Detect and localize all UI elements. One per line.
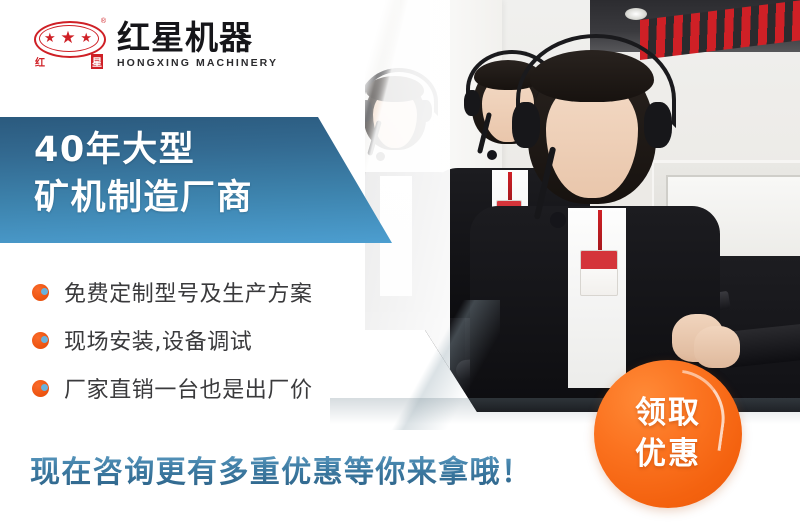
bullet-dot-icon [32, 380, 49, 397]
feature-label: 现场安装,设备调试 [64, 324, 252, 356]
feature-list: 免费定制型号及生产方案 现场安装,设备调试 厂家直销一台也是出厂价 [32, 268, 313, 412]
bullet-dot-icon [32, 332, 49, 349]
header: ★ ★ ★ ® 红 星 红星机器 HONGXING MACHINERY [0, 0, 800, 100]
bullet-dot-icon [32, 284, 49, 301]
feature-label: 免费定制型号及生产方案 [64, 276, 313, 308]
logo-sub-characters: 红 星 [35, 54, 103, 69]
cta-label-line-2: 优惠 [635, 434, 701, 475]
list-item: 厂家直销一台也是出厂价 [32, 364, 313, 412]
logo-sub-left: 红 [35, 54, 45, 69]
brand-name-en: HONGXING MACHINERY [117, 57, 278, 69]
star-icon-left: ★ [44, 31, 56, 44]
promo-banner: ★ ★ ★ ® 红 星 红星机器 HONGXING MACHINERY 40年大… [0, 0, 800, 530]
list-item: 现场安装,设备调试 [32, 316, 313, 364]
logo-stars: ★ ★ ★ [44, 28, 92, 47]
headline-line-1: 40年大型 [34, 127, 253, 175]
logo-sub-right: 星 [91, 54, 103, 69]
list-item: 免费定制型号及生产方案 [32, 268, 313, 316]
brand-wordmark: 红星机器 HONGXING MACHINERY [117, 19, 278, 70]
feature-label: 厂家直销一台也是出厂价 [64, 372, 313, 404]
headline-line-2: 矿机制造厂商 [34, 175, 253, 223]
headline-chevron-banner: 40年大型 矿机制造厂商 [0, 117, 392, 243]
brand-name-cn: 红星机器 [117, 21, 278, 56]
star-icon-center: ★ [60, 29, 75, 46]
promo-tagline: 现在咨询更有多重优惠等你来拿哦！ [30, 447, 532, 491]
headline-text: 40年大型 矿机制造厂商 [34, 127, 253, 223]
star-oval-icon: ★ ★ ★ ® 红 星 [32, 18, 108, 70]
registered-mark-icon: ® [101, 18, 106, 25]
cta-label-line-1: 领取 [635, 393, 701, 434]
star-icon-right: ★ [80, 31, 92, 44]
claim-discount-button[interactable]: 领取 优惠 [594, 360, 742, 508]
brand-logo[interactable]: ★ ★ ★ ® 红 星 红星机器 HONGXING MACHINERY [32, 18, 278, 70]
